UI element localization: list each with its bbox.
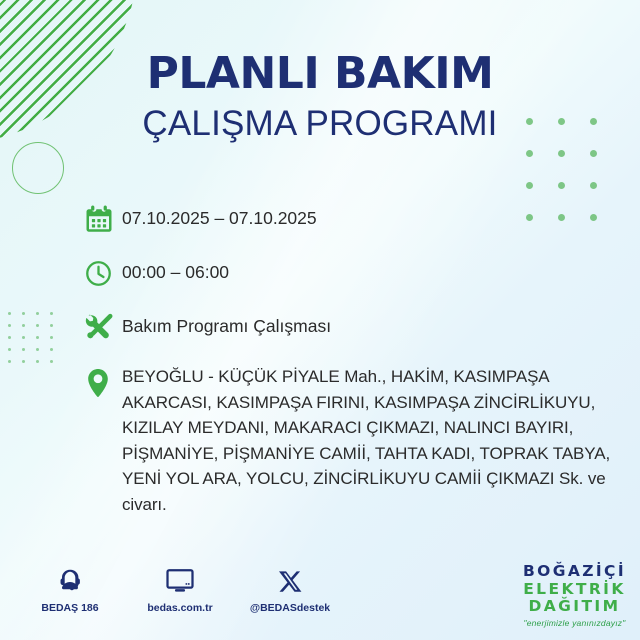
circle-outline-decoration: [12, 142, 64, 194]
work-type-text: Bakım Programı Çalışması: [122, 308, 331, 338]
contact-twitter-label: @BEDASdestek: [250, 602, 330, 614]
poster-footer: BEDAŞ 186 bedas.com.tr: [0, 556, 640, 640]
tools-icon: [84, 308, 122, 346]
clock-icon: [84, 254, 122, 292]
contact-phone[interactable]: BEDAŞ 186: [28, 564, 112, 616]
page-subtitle: ÇALIŞMA PROGRAMI: [0, 106, 640, 143]
contact-channels: BEDAŞ 186 bedas.com.tr: [28, 564, 332, 616]
location-pin-icon: [84, 362, 122, 402]
contact-twitter[interactable]: @BEDASdestek: [248, 564, 332, 616]
poster-canvas: PLANLI BAKIM ÇALIŞMA PROGRAMI 07.10.2025…: [0, 0, 640, 640]
detail-row-date: 07.10.2025 – 07.10.2025: [84, 200, 618, 238]
poster-header: PLANLI BAKIM ÇALIŞMA PROGRAMI: [0, 52, 640, 143]
dot-grid-left-decoration: [8, 312, 64, 372]
calendar-icon: [84, 200, 122, 238]
contact-website[interactable]: bedas.com.tr: [138, 564, 222, 616]
contact-phone-label: BEDAŞ 186: [41, 602, 98, 614]
brand-line-elektrik: ELEKTRİK: [523, 582, 626, 598]
date-range-text: 07.10.2025 – 07.10.2025: [122, 200, 317, 230]
brand-line-dagitim: DAĞITIM: [523, 599, 626, 615]
bedas-logo: BOĞAZİÇİ ELEKTRİK DAĞITIM "enerjimizle y…: [523, 564, 626, 627]
page-title: PLANLI BAKIM: [0, 52, 640, 96]
detail-row-time: 00:00 – 06:00: [84, 254, 618, 292]
brand-line-bogazici: BOĞAZİÇİ: [523, 564, 626, 580]
detail-row-location: BEYOĞLU - KÜÇÜK PİYALE Mah., HAKİM, KASI…: [84, 362, 618, 517]
outage-details: 07.10.2025 – 07.10.2025 00:00 – 06:00: [84, 200, 618, 533]
detail-row-work-type: Bakım Programı Çalışması: [84, 308, 618, 346]
x-twitter-icon: [248, 564, 332, 598]
time-range-text: 00:00 – 06:00: [122, 254, 229, 284]
brand-slogan: "enerjimizle yanınızdayız": [523, 619, 626, 628]
contact-website-label: bedas.com.tr: [147, 602, 212, 614]
monitor-icon: [138, 564, 222, 598]
headset-support-icon: [28, 564, 112, 598]
location-text: BEYOĞLU - KÜÇÜK PİYALE Mah., HAKİM, KASI…: [122, 362, 618, 517]
